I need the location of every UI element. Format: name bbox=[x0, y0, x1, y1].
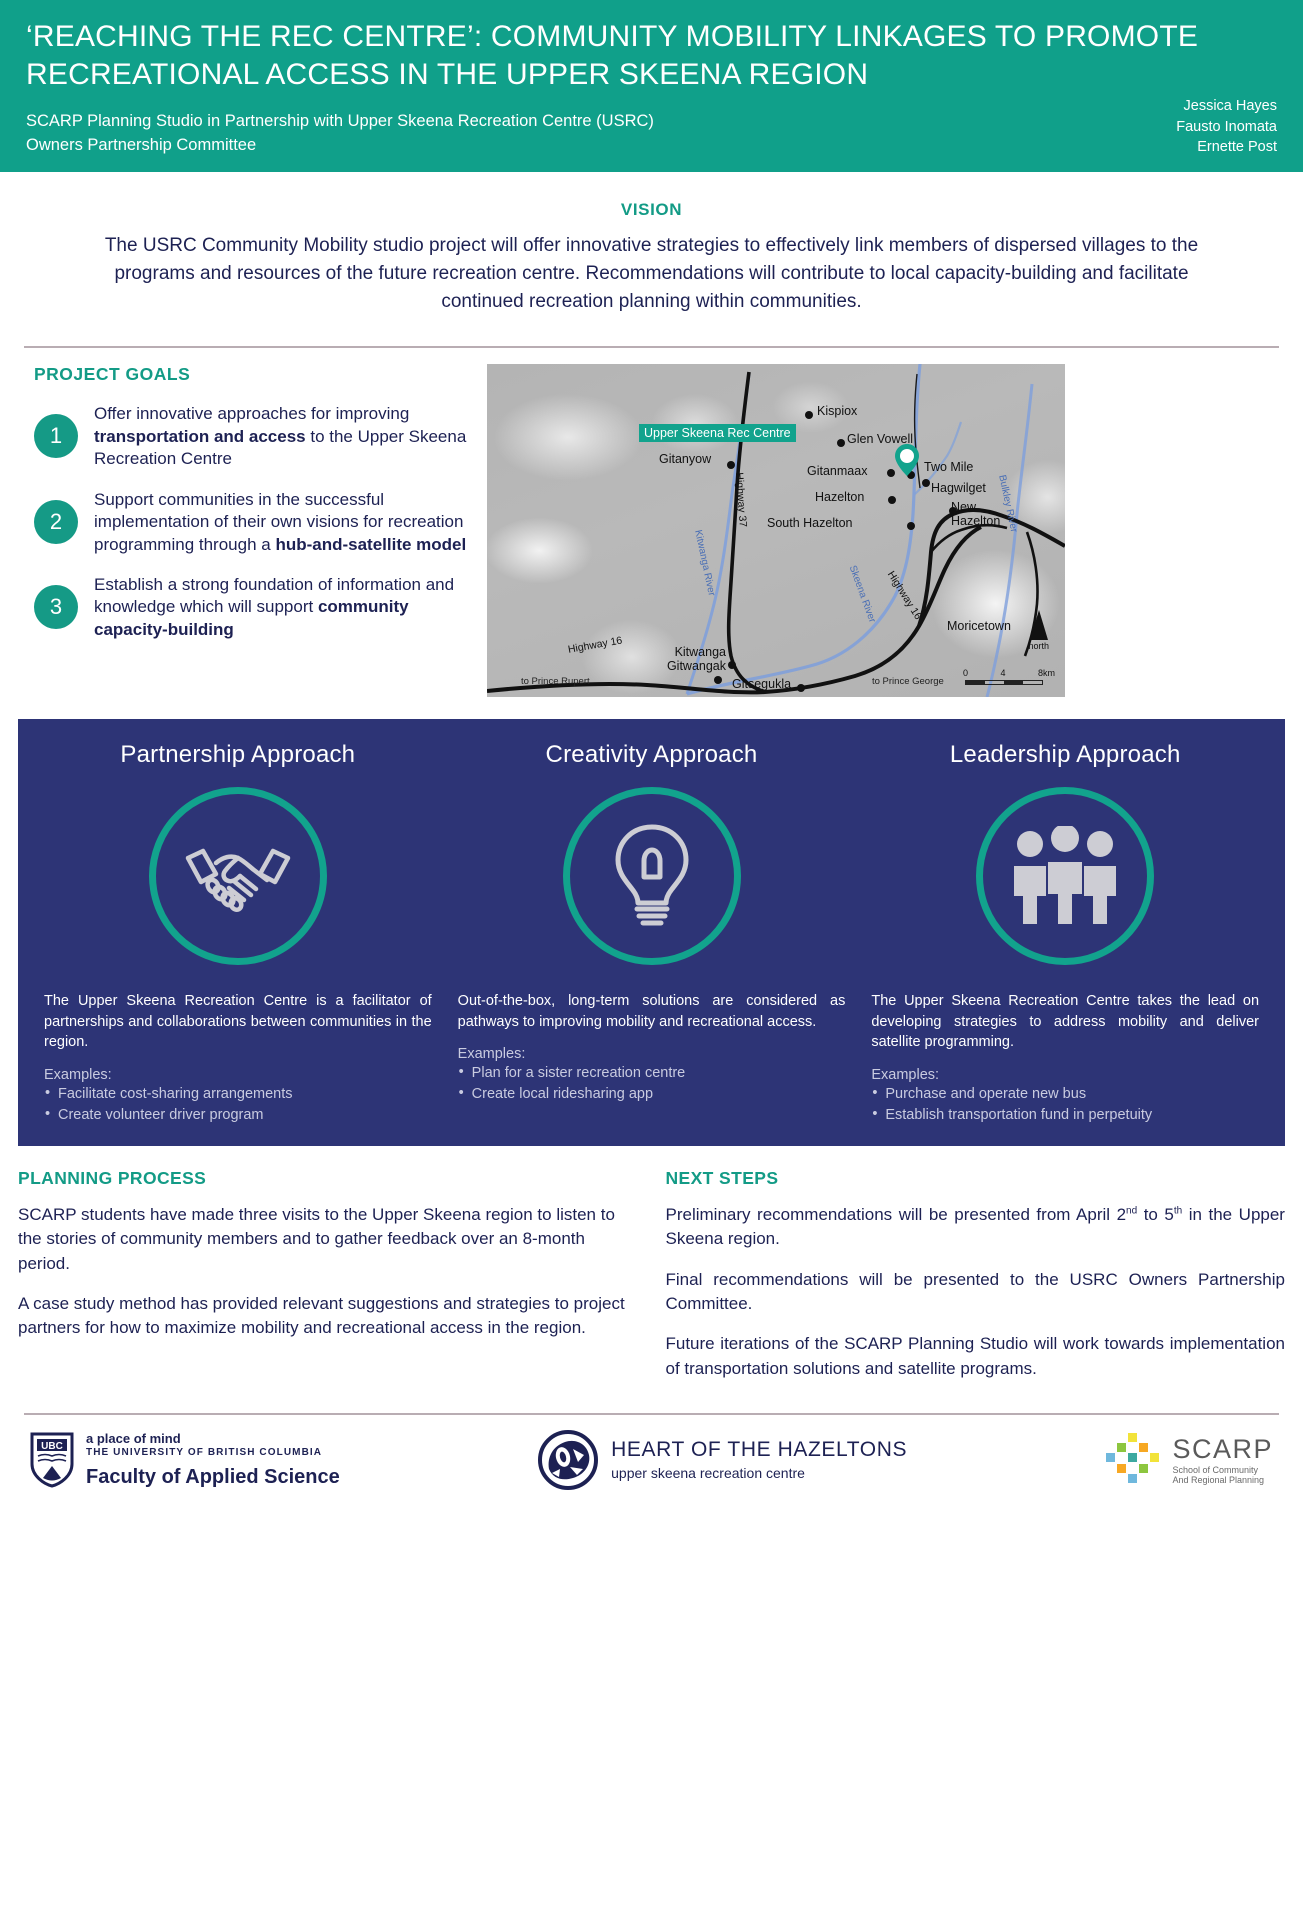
next-steps-p1-a: Preliminary recommendations will be pres… bbox=[666, 1205, 1127, 1224]
ubc-university-name: THE UNIVERSITY OF BRITISH COLUMBIA bbox=[86, 1447, 340, 1458]
list-item: Plan for a sister recreation centre bbox=[458, 1064, 846, 1084]
approach-examples-label-leadership: Examples: bbox=[871, 1067, 1259, 1083]
approach-examples-label-partnership: Examples: bbox=[44, 1067, 432, 1083]
map-scale-tick-2: 8km bbox=[1038, 668, 1055, 678]
svg-text:UBC: UBC bbox=[41, 1441, 63, 1452]
approach-examples-leadership: Purchase and operate new bus Establish t… bbox=[871, 1085, 1259, 1126]
vision-body: The USRC Community Mobility studio proje… bbox=[100, 232, 1203, 316]
north-arrow-label: north bbox=[1028, 641, 1049, 651]
approach-body-leadership: The Upper Skeena Recreation Centre takes… bbox=[871, 991, 1259, 1053]
approach-icon-circle-creativity bbox=[563, 787, 741, 965]
scarp-name: SCARP bbox=[1172, 1434, 1273, 1465]
goal-item-3: 3 Establish a strong foundation of infor… bbox=[34, 572, 479, 641]
page-title: ‘REACHING THE REC CENTRE’: COMMUNITY MOB… bbox=[26, 18, 1206, 94]
region-map: Kispiox Glen Vowell Two Mile Hagwilget G… bbox=[487, 364, 1065, 697]
approach-icon-circle-leadership bbox=[976, 787, 1154, 965]
location-pin-icon bbox=[895, 444, 919, 476]
north-arrow-icon: north bbox=[1028, 610, 1049, 651]
list-item: Create volunteer driver program bbox=[44, 1106, 432, 1126]
heart-of-hazeltons-text: HEART OF THE HAZELTONS upper skeena recr… bbox=[611, 1438, 907, 1481]
formline-art-icon bbox=[537, 1429, 599, 1491]
map-label-gitsegukla: Gitsegukla bbox=[732, 677, 791, 691]
project-goals: PROJECT GOALS 1 Offer innovative approac… bbox=[24, 364, 479, 657]
next-steps-heading: NEXT STEPS bbox=[666, 1168, 1286, 1189]
north-arrow-triangle bbox=[1030, 610, 1048, 640]
scarp-mosaic-icon bbox=[1104, 1431, 1162, 1489]
approach-body-partnership: The Upper Skeena Recreation Centre is a … bbox=[44, 991, 432, 1053]
footer-logos: UBC a place of mind THE UNIVERSITY OF BR… bbox=[0, 1415, 1303, 1491]
hagwilget-connector-path bbox=[931, 526, 1007, 553]
project-goals-heading: PROJECT GOALS bbox=[34, 364, 479, 385]
approach-examples-creativity: Plan for a sister recreation centre Crea… bbox=[458, 1064, 846, 1105]
map-label-two-mile: Two Mile bbox=[924, 460, 973, 474]
goal-number-badge-1: 1 bbox=[34, 414, 78, 458]
ubc-faculty-name: Faculty of Applied Science bbox=[86, 1466, 340, 1489]
map-scale-line bbox=[965, 680, 1043, 685]
map-scale-bar: 0 4 8km bbox=[965, 668, 1055, 685]
scarp-logo-text: SCARP School of Community And Regional P… bbox=[1172, 1434, 1273, 1487]
highway-37-path bbox=[729, 372, 765, 692]
approach-title-partnership: Partnership Approach bbox=[44, 741, 432, 769]
list-item: Establish transportation fund in perpetu… bbox=[871, 1106, 1259, 1126]
approach-title-creativity: Creativity Approach bbox=[458, 741, 846, 769]
next-steps-p1-sup2: th bbox=[1174, 1206, 1182, 1217]
bulkley-river-path bbox=[987, 384, 1032, 697]
ubc-logo: UBC a place of mind THE UNIVERSITY OF BR… bbox=[30, 1431, 340, 1489]
planning-process-paragraph-1: SCARP students have made three visits to… bbox=[18, 1203, 638, 1276]
map-label-gitanmaax: Gitanmaax bbox=[807, 464, 867, 478]
author-2: Fausto Inomata bbox=[1176, 117, 1277, 138]
approach-examples-label-creativity: Examples: bbox=[458, 1046, 846, 1062]
next-steps-paragraph-3: Future iterations of the SCARP Planning … bbox=[666, 1332, 1286, 1381]
author-list: Jessica Hayes Fausto Inomata Ernette Pos… bbox=[1176, 96, 1277, 158]
goal-number-badge-3: 3 bbox=[34, 585, 78, 629]
handshake-icon bbox=[183, 836, 293, 916]
map-label-kispiox: Kispiox bbox=[817, 404, 857, 418]
approach-card-leadership: Leadership Approach The Upper Skeena Rec… bbox=[871, 741, 1259, 1126]
approach-icon-circle-partnership bbox=[149, 787, 327, 965]
scarp-subtitle-line1: School of Community bbox=[1172, 1465, 1273, 1476]
map-edge-label-prince-george: to Prince George bbox=[872, 676, 944, 687]
ubc-shield-icon: UBC bbox=[30, 1432, 74, 1488]
goal-number-badge-2: 2 bbox=[34, 500, 78, 544]
planning-process-heading: PLANNING PROCESS bbox=[18, 1168, 638, 1189]
scarp-logo: SCARP School of Community And Regional P… bbox=[1104, 1431, 1273, 1489]
hoh-subtitle: upper skeena recreation centre bbox=[611, 1465, 907, 1481]
next-steps-column: NEXT STEPS Preliminary recommendations w… bbox=[666, 1168, 1286, 1397]
map-label-gitanyow: Gitanyow bbox=[659, 452, 711, 466]
scarp-subtitle-line2: And Regional Planning bbox=[1172, 1475, 1273, 1486]
goal-text-1-pre: Offer innovative approaches for improvin… bbox=[94, 404, 409, 423]
goal-text-1-bold: transportation and access bbox=[94, 427, 306, 446]
goal-item-1: 1 Offer innovative approaches for improv… bbox=[34, 401, 479, 470]
approach-examples-partnership: Facilitate cost-sharing arrangements Cre… bbox=[44, 1085, 432, 1126]
lightbulb-icon bbox=[606, 821, 698, 931]
goal-item-2: 2 Support communities in the successful … bbox=[34, 487, 479, 556]
heart-of-hazeltons-logo: HEART OF THE HAZELTONS upper skeena recr… bbox=[537, 1429, 907, 1491]
map-label-moricetown: Moricetown bbox=[947, 619, 1011, 633]
map-scale-ticks: 0 4 8km bbox=[963, 668, 1055, 678]
list-item: Create local ridesharing app bbox=[458, 1085, 846, 1105]
author-1: Jessica Hayes bbox=[1176, 96, 1277, 117]
map-callout-usrc: Upper Skeena Rec Centre bbox=[639, 424, 796, 442]
next-steps-p1-b: to 5 bbox=[1137, 1205, 1174, 1224]
header-subtitle-line1: SCARP Planning Studio in Partnership wit… bbox=[26, 110, 654, 134]
header-bottom-row: SCARP Planning Studio in Partnership wit… bbox=[26, 96, 1277, 158]
header-subtitle-line2: Owners Partnership Committee bbox=[26, 134, 654, 158]
map-scale-tick-1: 4 bbox=[1000, 668, 1005, 678]
map-label-kitwanga-gitwangak: Kitwanga Gitwangak bbox=[650, 646, 726, 674]
planning-process-paragraph-2: A case study method has provided relevan… bbox=[18, 1292, 638, 1341]
hoh-title: HEART OF THE HAZELTONS bbox=[611, 1438, 907, 1462]
list-item: Purchase and operate new bus bbox=[871, 1085, 1259, 1105]
header-subtitle: SCARP Planning Studio in Partnership wit… bbox=[26, 110, 654, 158]
approach-card-creativity: Creativity Approach Out-of-the-box, long… bbox=[458, 741, 846, 1126]
goals-and-map-section: PROJECT GOALS 1 Offer innovative approac… bbox=[0, 348, 1303, 697]
bottom-text-section: PLANNING PROCESS SCARP students have mad… bbox=[0, 1146, 1303, 1397]
map-label-hagwilget: Hagwilget bbox=[931, 481, 986, 495]
region-map-wrapper: Kispiox Glen Vowell Two Mile Hagwilget G… bbox=[479, 364, 1279, 697]
next-steps-paragraph-1: Preliminary recommendations will be pres… bbox=[666, 1203, 1286, 1252]
approach-body-creativity: Out-of-the-box, long-term solutions are … bbox=[458, 991, 846, 1032]
map-edge-label-prince-rupert: to Prince Rupert bbox=[521, 676, 590, 687]
author-3: Ernette Post bbox=[1176, 137, 1277, 158]
next-steps-paragraph-2: Final recommendations will be presented … bbox=[666, 1268, 1286, 1317]
map-label-hazelton: Hazelton bbox=[815, 490, 864, 504]
map-scale-tick-0: 0 bbox=[963, 668, 968, 678]
approach-card-partnership: Partnership Approach The Upper Sk bbox=[44, 741, 432, 1126]
goal-text-3: Establish a strong foundation of informa… bbox=[94, 572, 479, 641]
list-item: Facilitate cost-sharing arrangements bbox=[44, 1085, 432, 1105]
planning-process-column: PLANNING PROCESS SCARP students have mad… bbox=[18, 1168, 638, 1397]
poster-header: ‘REACHING THE REC CENTRE’: COMMUNITY MOB… bbox=[0, 0, 1303, 172]
goal-text-1: Offer innovative approaches for improvin… bbox=[94, 401, 479, 470]
people-group-icon bbox=[1006, 826, 1124, 926]
next-steps-p1-sup1: nd bbox=[1126, 1206, 1137, 1217]
goal-text-2: Support communities in the successful im… bbox=[94, 487, 479, 556]
approach-title-leadership: Leadership Approach bbox=[871, 741, 1259, 769]
map-label-new-hazelton: New Hazelton bbox=[951, 501, 1009, 529]
approaches-band: Partnership Approach The Upper Sk bbox=[18, 719, 1285, 1146]
goal-text-2-bold: hub-and-satellite model bbox=[275, 535, 466, 554]
ubc-tagline: a place of mind bbox=[86, 1431, 340, 1446]
map-label-south-hazelton: South Hazelton bbox=[767, 516, 852, 530]
vision-heading: VISION bbox=[100, 200, 1203, 220]
ubc-logo-text: a place of mind THE UNIVERSITY OF BRITIS… bbox=[86, 1431, 340, 1489]
vision-section: VISION The USRC Community Mobility studi… bbox=[0, 172, 1303, 326]
